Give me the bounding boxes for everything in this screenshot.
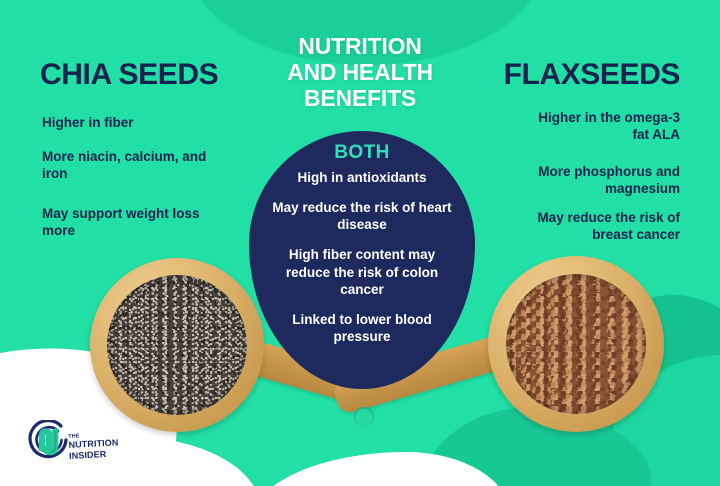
brand-logo-text: THE NUTRITION INSIDER (68, 431, 119, 461)
page-title-line-2: AND HEALTH (287, 59, 433, 85)
page-title-line-3: BENEFITS (304, 85, 416, 111)
chia-seeds (107, 275, 247, 415)
both-benefits-panel: BOTH High in antioxidants May reduce the… (249, 142, 475, 345)
both-benefit-item: May reduce the risk of heart disease (249, 199, 475, 233)
chia-benefit-item: More niacin, calcium, and iron (42, 148, 217, 182)
both-label: BOTH (249, 142, 475, 164)
page-title-line-1: NUTRITION (298, 33, 421, 59)
flaxseed-benefit-item: More phosphorus and magnesium (495, 163, 680, 197)
chia-benefit-item: May support weight loss more (42, 205, 202, 239)
page-title: NUTRITION AND HEALTH BENEFITS (245, 34, 475, 111)
chia-benefit-item: Higher in fiber (42, 114, 242, 131)
both-benefit-item: High in antioxidants (249, 169, 475, 186)
infographic-canvas: CHIA SEEDS FLAXSEEDS NUTRITION AND HEALT… (0, 0, 720, 486)
flaxseed-benefit-item: May reduce the risk of breast cancer (500, 209, 680, 243)
nutrition-insider-mark-icon (28, 420, 72, 464)
both-benefit-item: Linked to lower blood pressure (249, 311, 475, 345)
flaxseeds-heading: FLAXSEEDS (504, 60, 680, 90)
brand-logo[interactable]: THE NUTRITION INSIDER (28, 418, 148, 466)
both-benefit-item: High fiber content may reduce the risk o… (249, 246, 475, 297)
chia-seeds-heading: CHIA SEEDS (40, 60, 218, 90)
spoon-handle-hole (354, 407, 374, 427)
logo-line-3: INSIDER (69, 448, 119, 461)
flax-seeds (506, 274, 646, 414)
flaxseed-benefit-item: Higher in the omega-3 fat ALA (520, 109, 680, 143)
